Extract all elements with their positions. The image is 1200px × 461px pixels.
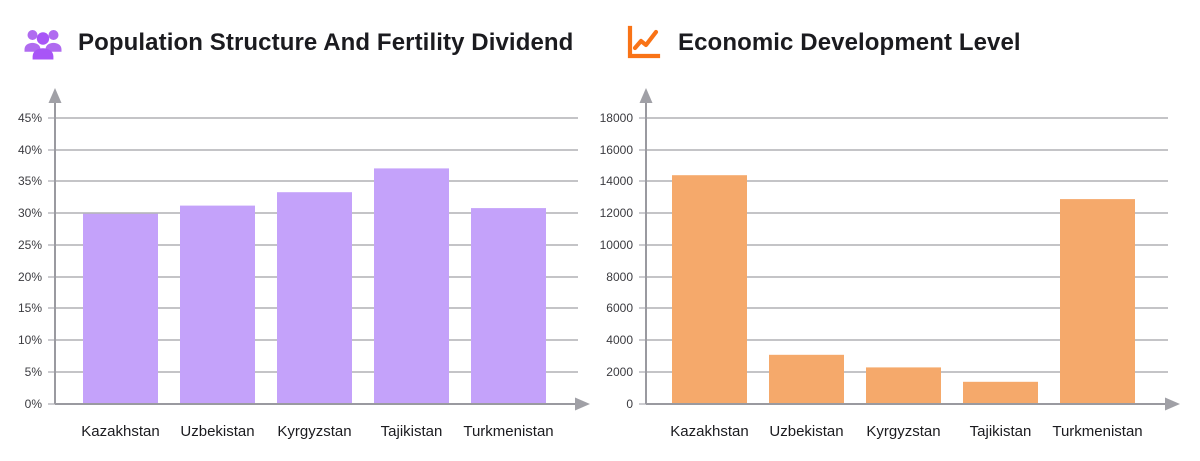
x-axis-labels-population: Kazakhstan Uzbekistan Kyrgyzstan Tajikis… [81,423,553,440]
y-tick-label: 14000 [600,174,633,188]
y-tick-label: 15% [18,301,42,315]
x-axis-labels-economy: Kazakhstan Uzbekistan Kyrgyzstan Tajikis… [670,423,1142,440]
dual-chart-board: Population Structure And Fertility Divid… [0,0,1200,461]
x-tick-label: Uzbekistan [769,423,843,440]
panel-economy: Economic Development Level [600,0,1200,461]
panel-header-population: Population Structure And Fertility Divid… [22,22,573,64]
x-tick-label: Tajikistan [381,423,443,440]
x-axis-arrow-icon [1165,398,1180,411]
x-tick-label: Turkmenistan [1052,423,1142,440]
chart-population: 45% 40% 35% 30% 25% 20% 15% 10% 5% 0% Ka… [0,86,600,461]
chart-economy: 18000 16000 14000 12000 10000 8000 6000 … [600,86,1200,461]
y-tick-label: 16000 [600,143,633,157]
y-tick-label: 40% [18,143,42,157]
panel-population: Population Structure And Fertility Divid… [0,0,600,461]
y-tick-label: 12000 [600,206,633,220]
chart-economy-svg: 18000 16000 14000 12000 10000 8000 6000 … [600,86,1200,461]
y-axis-labels-economy: 18000 16000 14000 12000 10000 8000 6000 … [600,111,633,411]
bar-turkmenistan [1060,199,1135,404]
y-tick-label: 8000 [606,270,633,284]
bar-tajikistan [963,382,1038,404]
line-chart-icon [622,22,664,64]
chart-population-svg: 45% 40% 35% 30% 25% 20% 15% 10% 5% 0% Ka… [0,86,600,461]
x-tick-label: Kazakhstan [81,423,159,440]
page-title-economy: Economic Development Level [678,29,1021,57]
y-tick-label: 45% [18,111,42,125]
page-title-population: Population Structure And Fertility Divid… [78,29,573,57]
x-tick-label: Tajikistan [970,423,1032,440]
y-axis-labels-population: 45% 40% 35% 30% 25% 20% 15% 10% 5% 0% [18,111,42,411]
bar-tajikistan [374,168,449,404]
y-tick-label: 35% [18,174,42,188]
people-group-icon [22,22,64,64]
bar-kyrgyzstan [866,367,941,404]
bar-uzbekistan [769,355,844,404]
y-tick-label: 0 [626,397,633,411]
x-tick-label: Kazakhstan [670,423,748,440]
y-axis-arrow-icon [640,88,653,103]
tickmarks-economy [639,118,646,404]
tickmarks-population [48,118,55,404]
panel-header-economy: Economic Development Level [622,22,1021,64]
y-tick-label: 4000 [606,333,633,347]
y-axis-arrow-icon [49,88,62,103]
x-axis-arrow-icon [575,398,590,411]
bar-kyrgyzstan [277,192,352,404]
y-tick-label: 0% [25,397,43,411]
bar-kazakhstan [83,214,158,404]
x-tick-label: Kyrgyzstan [277,423,351,440]
y-tick-label: 10000 [600,238,633,252]
x-tick-label: Kyrgyzstan [866,423,940,440]
y-tick-label: 25% [18,238,42,252]
y-tick-label: 18000 [600,111,633,125]
bar-turkmenistan [471,208,546,404]
y-tick-label: 30% [18,206,42,220]
y-tick-label: 2000 [606,365,633,379]
bars-economy [672,175,1135,404]
bar-uzbekistan [180,206,255,404]
y-tick-label: 5% [25,365,43,379]
x-tick-label: Turkmenistan [463,423,553,440]
bar-kazakhstan [672,175,747,404]
bars-population [83,168,546,404]
y-tick-label: 6000 [606,301,633,315]
x-tick-label: Uzbekistan [180,423,254,440]
y-tick-label: 10% [18,333,42,347]
y-tick-label: 20% [18,270,42,284]
